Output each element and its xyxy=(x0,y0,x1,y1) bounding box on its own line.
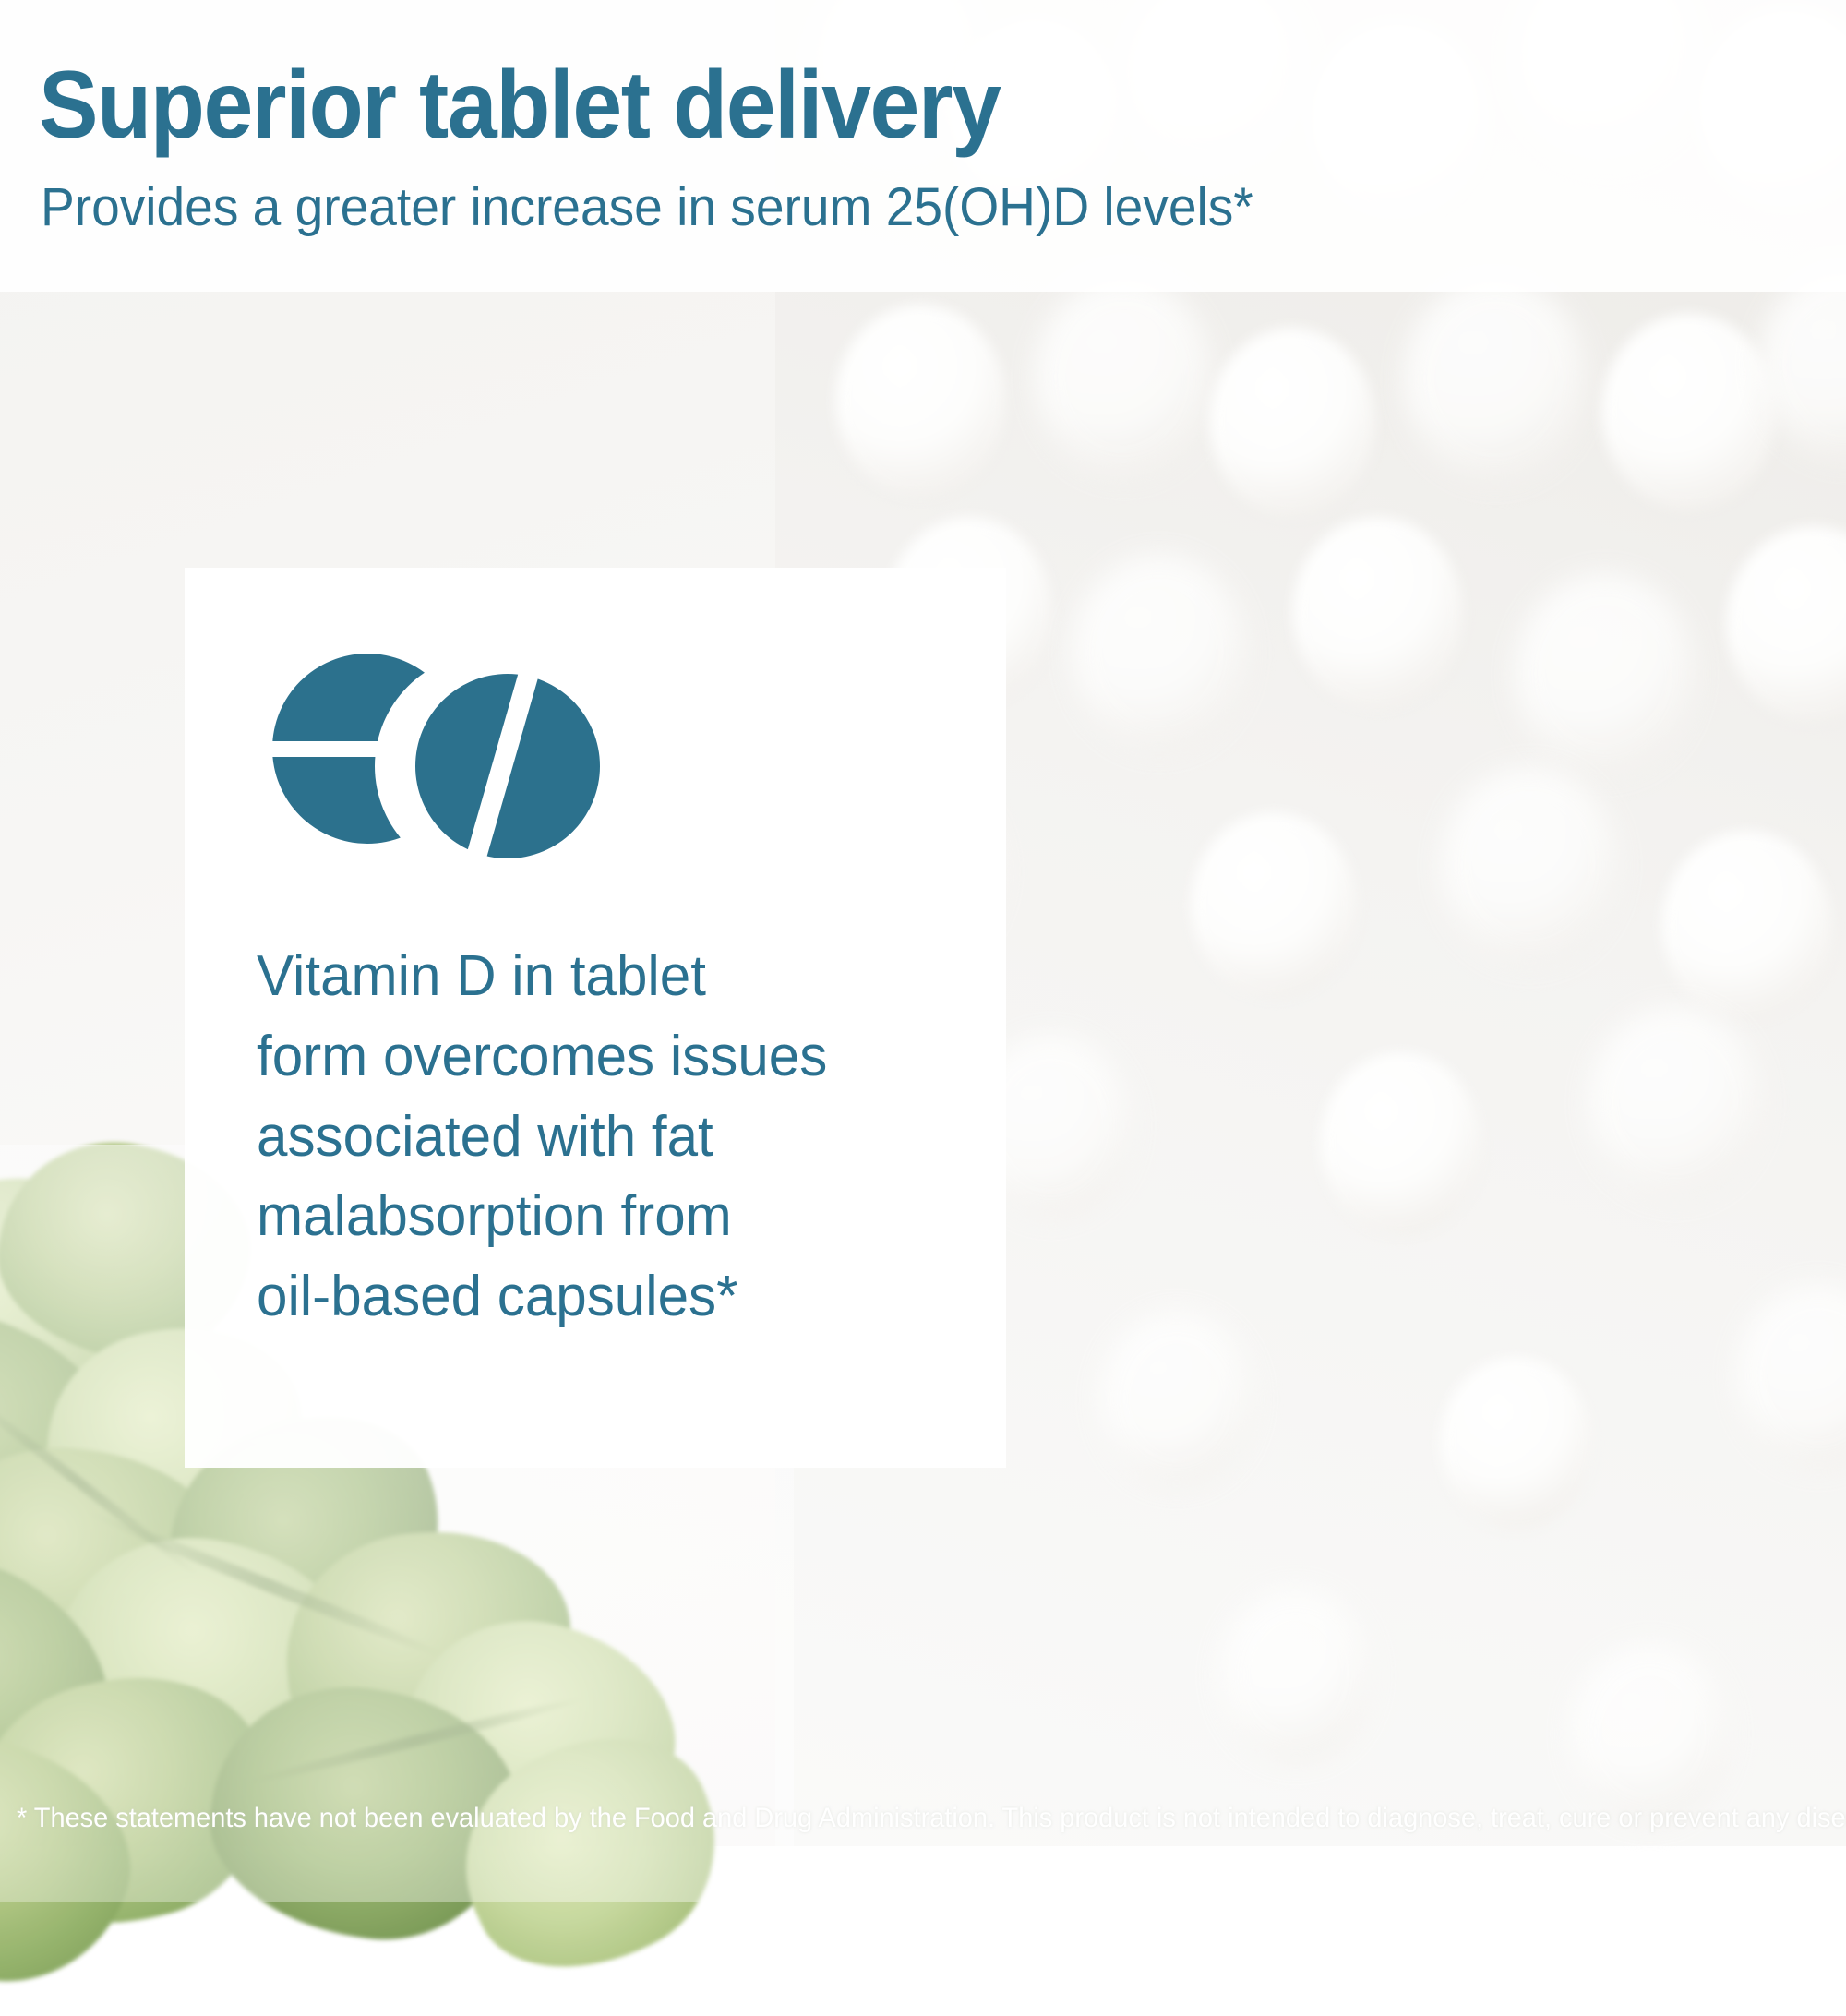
page-title: Superior tablet delivery xyxy=(39,57,1001,153)
card-body-line: associated with fat xyxy=(257,1098,937,1178)
card-body-line: Vitamin D in tablet xyxy=(257,937,937,1017)
card-body-text: Vitamin D in tablet form overcomes issue… xyxy=(257,937,937,1338)
card-body-line: malabsorption from xyxy=(257,1177,937,1257)
page-subtitle: Provides a greater increase in serum 25(… xyxy=(41,181,1253,234)
two-tablets-icon xyxy=(257,642,644,872)
info-card: Vitamin D in tablet form overcomes issue… xyxy=(185,568,1006,1468)
card-body-line: form overcomes issues xyxy=(257,1017,937,1098)
card-body-line: oil-based capsules* xyxy=(257,1257,937,1338)
header-band: Superior tablet delivery Provides a grea… xyxy=(0,0,1846,292)
footer-disclaimer: * These statements have not been evaluat… xyxy=(17,1803,1771,1833)
